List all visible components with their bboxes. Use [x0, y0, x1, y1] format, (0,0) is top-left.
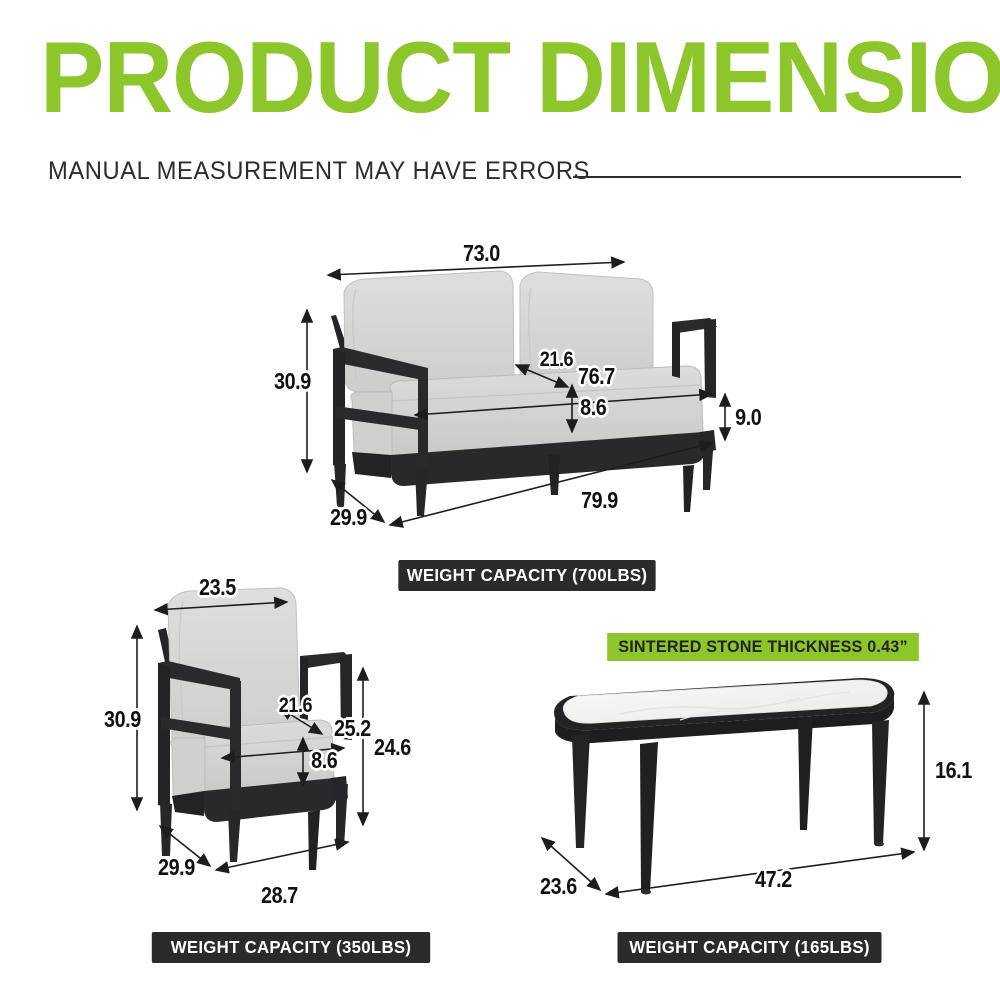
sofa-diagram: 73.0 30.9 21.6 76.7 8.6 9.0 29.9 79.9: [0, 0, 1000, 560]
chair-illustration: [0, 560, 520, 960]
chair-weight-capacity-badge: WEIGHT CAPACITY (350LBS): [152, 932, 430, 963]
sofa-illustration: [0, 0, 1000, 560]
table-illustration: [500, 620, 1000, 960]
table-diagram: 16.1 23.6 47.2: [500, 620, 1000, 960]
sofa-body: [331, 271, 717, 516]
chair-diagram: 23.5 30.9 21.6 25.2 8.6 24.6 29.9 28.7: [0, 560, 520, 960]
infographic-page: PRODUCT DIMENSIONS MANUAL MEASUREMENT MA…: [0, 0, 1000, 1000]
table-weight-capacity-badge: WEIGHT CAPACITY (165LBS): [618, 932, 882, 963]
